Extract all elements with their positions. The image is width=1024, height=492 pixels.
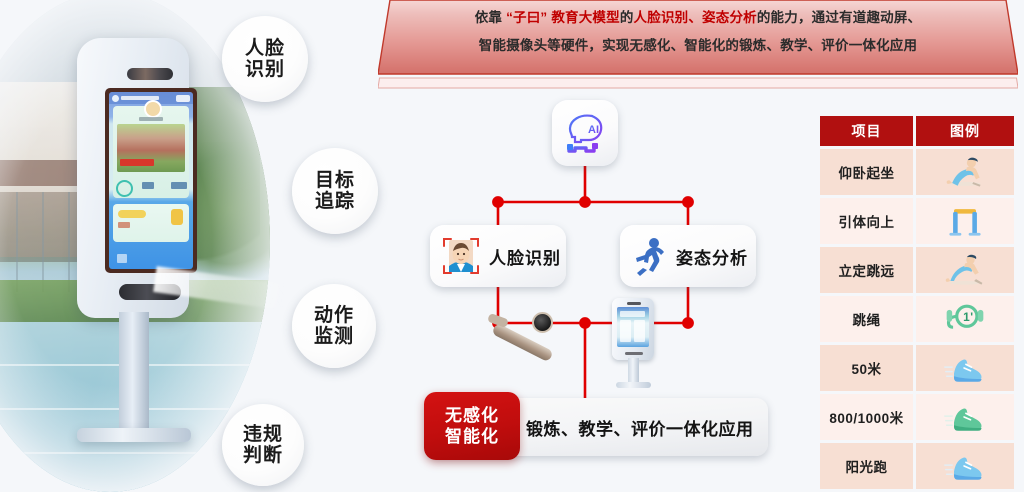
banner-line-2: 智能摄像头等硬件，实现无感化、智能化的锻炼、教学、评价一体化应用 xyxy=(392,32,1004,60)
kiosk-device xyxy=(60,20,210,480)
running-person-icon xyxy=(634,236,668,276)
kiosk-thumbnail xyxy=(606,298,660,390)
green-shoe-icon xyxy=(943,400,987,434)
outcome-bar-label: 锻炼、教学、评价一体化应用 xyxy=(526,415,754,440)
kiosk-ui-badge xyxy=(176,95,190,102)
kiosk-ui-stats xyxy=(116,179,186,195)
table-row[interactable]: 立定跳远 xyxy=(820,247,1014,293)
banner-text: 依靠 “子曰” 教育大模型的人脸识别、姿态分析的能力，通过有道趣动屏、 智能摄像… xyxy=(392,4,1004,60)
kiosk-thumb-camera-icon xyxy=(627,302,641,305)
kiosk-ui-footer xyxy=(117,254,127,263)
kiosk-screen xyxy=(105,88,197,273)
kiosk-camera-icon xyxy=(127,68,173,80)
table-cell-legend xyxy=(916,296,1014,342)
table-header-row: 项目 图例 xyxy=(820,116,1014,146)
kiosk-thumb-scanner xyxy=(625,352,643,355)
callout-bubble-line: 人脸 xyxy=(245,38,285,59)
callout-bubble-line: 动作 xyxy=(314,305,354,326)
table-cell-legend xyxy=(916,247,1014,293)
table-row[interactable]: 50米 xyxy=(820,345,1014,391)
situp-icon xyxy=(943,155,987,189)
callout-bubble-target-tracking[interactable]: 目标追踪 xyxy=(292,148,378,234)
kiosk-ui-secondary-card xyxy=(113,204,189,242)
callout-bubble-line: 违规 xyxy=(243,424,283,445)
banner-text-fragment: “子曰” 教育大模型 xyxy=(506,10,620,25)
table-row[interactable]: 引体向上 xyxy=(820,198,1014,244)
callout-bubble-line: 判断 xyxy=(243,445,283,466)
kiosk-pole xyxy=(119,312,149,432)
banner-text-fragment: 依靠 xyxy=(475,10,506,25)
architecture-diagram: AI xyxy=(380,92,820,484)
callout-bubble-face-recognition[interactable]: 人脸识别 xyxy=(222,16,308,102)
face-id-icon xyxy=(442,236,480,276)
blue-shoe-icon xyxy=(943,449,987,483)
kiosk-ui-pill xyxy=(118,210,146,218)
longjump-icon xyxy=(943,253,987,287)
kiosk-ui-profile-card xyxy=(113,106,189,198)
camera-lens xyxy=(532,312,553,333)
table-row[interactable]: 800/1000米 xyxy=(820,394,1014,440)
callout-bubble-line: 监测 xyxy=(314,326,354,347)
kiosk-ui-stat-value xyxy=(142,182,154,189)
kiosk-ui-banner-image xyxy=(117,124,185,172)
table-row[interactable]: 阳光跑 xyxy=(820,443,1014,489)
callout-bubble-violation-judgment[interactable]: 违规判断 xyxy=(222,404,304,486)
callout-bubble-motion-monitoring[interactable]: 动作监测 xyxy=(292,284,376,368)
kiosk-ui-username xyxy=(139,117,163,121)
outcome-tag-line-1: 无感化 xyxy=(445,405,499,426)
outcome-tag-line-2: 智能化 xyxy=(445,426,499,447)
table-cell-legend xyxy=(916,345,1014,391)
table-cell-item-name: 跳绳 xyxy=(820,296,913,342)
banner-text-fragment: 智能摄像头等硬件，实现无感化、智能化的锻炼、教学、评价一体化应用 xyxy=(479,38,917,53)
banner-line-1: 依靠 “子曰” 教育大模型的人脸识别、姿态分析的能力，通过有道趣动屏、 xyxy=(392,4,1004,32)
top-banner: 依靠 “子曰” 教育大模型的人脸识别、姿态分析的能力，通过有道趣动屏、 智能摄像… xyxy=(378,0,1018,92)
banner-text-fragment: 的能力，通过有道趣动屏、 xyxy=(757,10,921,25)
table-cell-item-name: 50米 xyxy=(820,345,913,391)
table-header-legend: 图例 xyxy=(916,116,1014,146)
node-pose-analysis[interactable]: 姿态分析 xyxy=(620,225,756,287)
table-header-item: 项目 xyxy=(820,116,913,146)
medal-icon xyxy=(171,209,183,225)
sports-items-table: 项目 图例 仰卧起坐引体向上立定跳远跳绳50米800/1000米阳光跑 xyxy=(820,116,1014,476)
node-ai-model[interactable]: AI xyxy=(552,100,618,166)
outcome-tag[interactable]: 无感化 智能化 xyxy=(424,392,520,460)
table-cell-item-name: 阳光跑 xyxy=(820,443,913,489)
table-cell-item-name: 仰卧起坐 xyxy=(820,149,913,195)
avatar xyxy=(144,100,162,118)
kiosk-ui-progress-ring xyxy=(116,180,133,197)
kiosk-ui-stat-value xyxy=(171,182,187,189)
table-cell-legend xyxy=(916,149,1014,195)
kiosk-thumb-body xyxy=(612,298,654,360)
kiosk-ui-banner-tag xyxy=(120,159,154,166)
ai-label: AI xyxy=(588,124,599,136)
node-face-recognition[interactable]: 人脸识别 xyxy=(430,225,566,287)
jumprope-icon xyxy=(943,302,987,336)
callout-bubble-line: 目标 xyxy=(315,170,355,191)
kiosk-ui-subtext xyxy=(118,222,130,228)
banner-text-fragment: 的 xyxy=(620,10,634,25)
table-body: 仰卧起坐引体向上立定跳远跳绳50米800/1000米阳光跑 xyxy=(820,149,1014,489)
banner-text-fragment: 人脸识别、姿态分析 xyxy=(634,10,757,25)
pullup-bar-icon xyxy=(943,204,987,238)
table-row[interactable]: 跳绳 xyxy=(820,296,1014,342)
node-pose-analysis-label: 姿态分析 xyxy=(676,244,748,269)
table-cell-item-name: 800/1000米 xyxy=(820,394,913,440)
table-cell-legend xyxy=(916,198,1014,244)
kiosk-thumb-screen xyxy=(617,307,649,347)
node-face-recognition-label: 人脸识别 xyxy=(489,244,561,269)
table-cell-legend xyxy=(916,394,1014,440)
ai-head-icon: AI xyxy=(562,110,608,156)
table-cell-item-name: 引体向上 xyxy=(820,198,913,244)
table-row[interactable]: 仰卧起坐 xyxy=(820,149,1014,195)
kiosk-thumb-pole xyxy=(628,358,639,384)
kiosk-base xyxy=(77,428,191,442)
table-cell-legend xyxy=(916,443,1014,489)
security-camera-photo xyxy=(486,304,572,376)
callout-bubble-line: 追踪 xyxy=(315,191,355,212)
callout-bubble-line: 识别 xyxy=(245,59,285,80)
blue-shoe-icon xyxy=(943,351,987,385)
kiosk-thumb-base xyxy=(616,382,651,388)
kiosk-ui-logo-icon xyxy=(112,95,119,102)
table-cell-item-name: 立定跳远 xyxy=(820,247,913,293)
kiosk-screen-ui xyxy=(109,92,193,269)
